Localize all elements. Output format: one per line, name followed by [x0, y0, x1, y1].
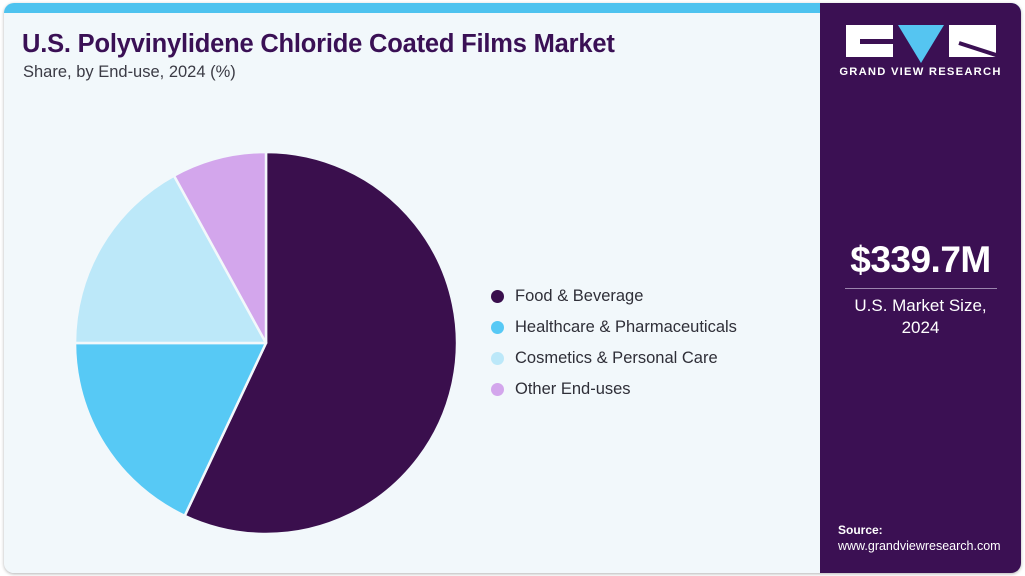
chart-body: U.S. Polyvinylidene Chloride Coated Film…: [4, 13, 820, 573]
logo-wordmark: GRAND VIEW RESEARCH: [820, 66, 1021, 78]
legend-label-food-beverage: Food & Beverage: [515, 287, 643, 306]
grand-view-research-logo: GRAND VIEW RESEARCH: [820, 25, 1021, 87]
legend-item-food-beverage[interactable]: Food & Beverage: [491, 281, 737, 312]
legend-item-healthcare-pharmaceuticals[interactable]: Healthcare & Pharmaceuticals: [491, 312, 737, 343]
source-label: Source:: [838, 523, 1018, 537]
legend-label-other-end-uses: Other End-uses: [515, 380, 631, 399]
logo-g-icon: [846, 25, 893, 57]
chart-image: U.S. Polyvinylidene Chloride Coated Film…: [0, 0, 1025, 576]
legend-item-other-end-uses[interactable]: Other End-uses: [491, 374, 737, 405]
market-size-caption: U.S. Market Size, 2024: [820, 295, 1021, 339]
market-size-value: $339.7M: [820, 241, 1021, 280]
pie-chart-svg: [64, 131, 469, 546]
brand-panel: GRAND VIEW RESEARCH $339.7M U.S. Market …: [820, 3, 1021, 573]
logo-r-slash: [958, 41, 996, 57]
legend-swatch-food-beverage: [491, 290, 504, 303]
logo-r-icon: [949, 25, 996, 57]
logo-v-triangle-icon: [898, 25, 944, 63]
logo-mark: [846, 25, 996, 57]
market-size-stat: $339.7M U.S. Market Size, 2024: [820, 241, 1021, 338]
source-block: Source: www.grandviewresearch.com: [838, 523, 1018, 553]
pie-chart: [64, 131, 469, 546]
legend-swatch-cosmetics-personal-care: [491, 352, 504, 365]
legend-item-cosmetics-personal-care[interactable]: Cosmetics & Personal Care: [491, 343, 737, 374]
chart-legend: Food & Beverage Healthcare & Pharmaceuti…: [491, 281, 737, 405]
chart-card: U.S. Polyvinylidene Chloride Coated Film…: [4, 3, 1021, 573]
legend-label-cosmetics-personal-care: Cosmetics & Personal Care: [515, 349, 718, 368]
page-title: U.S. Polyvinylidene Chloride Coated Film…: [22, 30, 615, 59]
logo-g-notch: [860, 39, 893, 44]
legend-swatch-other-end-uses: [491, 383, 504, 396]
legend-swatch-healthcare-pharmaceuticals: [491, 321, 504, 334]
page-subtitle: Share, by End-use, 2024 (%): [23, 63, 236, 82]
source-url[interactable]: www.grandviewresearch.com: [838, 539, 1018, 553]
stat-divider: [845, 288, 997, 289]
legend-label-healthcare-pharmaceuticals: Healthcare & Pharmaceuticals: [515, 318, 737, 337]
